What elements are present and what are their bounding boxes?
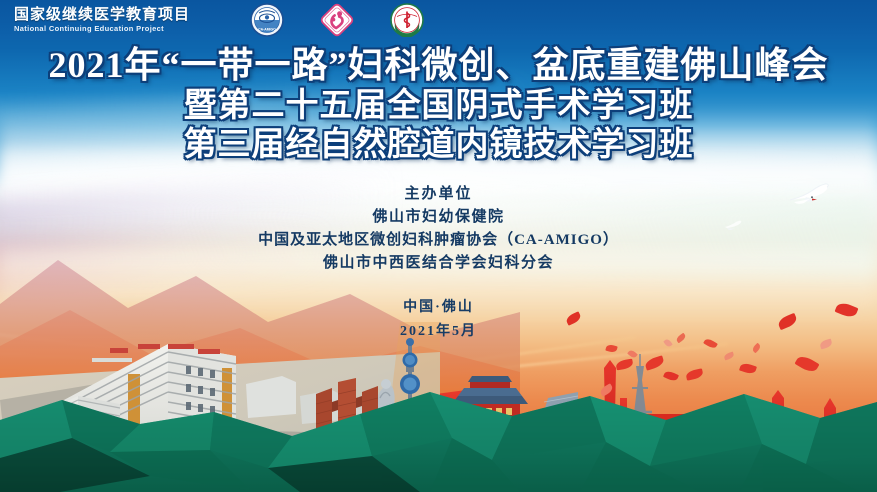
title-line-2: 暨第二十五届全国阴式手术学习班: [0, 89, 877, 125]
ca-amigo-logo: CA-AMIGO: [250, 3, 284, 37]
organizer-item: 中国及亚太地区微创妇科肿瘤协会（CA-AMIGO）: [0, 229, 877, 252]
event-location: 中国·佛山: [0, 296, 877, 320]
top-banner: 国家级继续医学教育项目 National Continuing Educatio…: [0, 0, 877, 40]
organizer-item: 佛山市中西医结合学会妇科分会: [0, 252, 877, 275]
organizer-block: 主办单位 佛山市妇幼保健院 中国及亚太地区微创妇科肿瘤协会（CA-AMIGO） …: [0, 183, 877, 275]
svg-text:CA-AMIGO: CA-AMIGO: [258, 28, 276, 32]
title-line-1: 2021年“一带一路”妇科微创、盆底重建佛山峰会: [0, 46, 877, 85]
program-label: 国家级继续医学教育项目 National Continuing Educatio…: [14, 7, 190, 33]
logo-group: CA-AMIGO: [250, 3, 424, 37]
event-meta: 中国·佛山 2021年5月: [0, 296, 877, 344]
program-label-en: National Continuing Education Project: [14, 25, 190, 33]
title-line-3: 第三届经自然腔道内镜技术学习班: [0, 128, 877, 164]
organizer-heading: 主办单位: [0, 183, 877, 206]
foreground-mountains: [0, 372, 877, 492]
organizer-item: 佛山市妇幼保健院: [0, 206, 877, 229]
medical-association-logo: [390, 3, 424, 37]
maternal-child-health-logo: [320, 3, 354, 37]
title-block: 2021年“一带一路”妇科微创、盆底重建佛山峰会 暨第二十五届全国阴式手术学习班…: [0, 46, 877, 163]
program-label-cn: 国家级继续医学教育项目: [14, 7, 190, 23]
conference-poster: 国家级继续医学教育项目 National Continuing Educatio…: [0, 0, 877, 492]
event-date: 2021年5月: [0, 320, 877, 344]
